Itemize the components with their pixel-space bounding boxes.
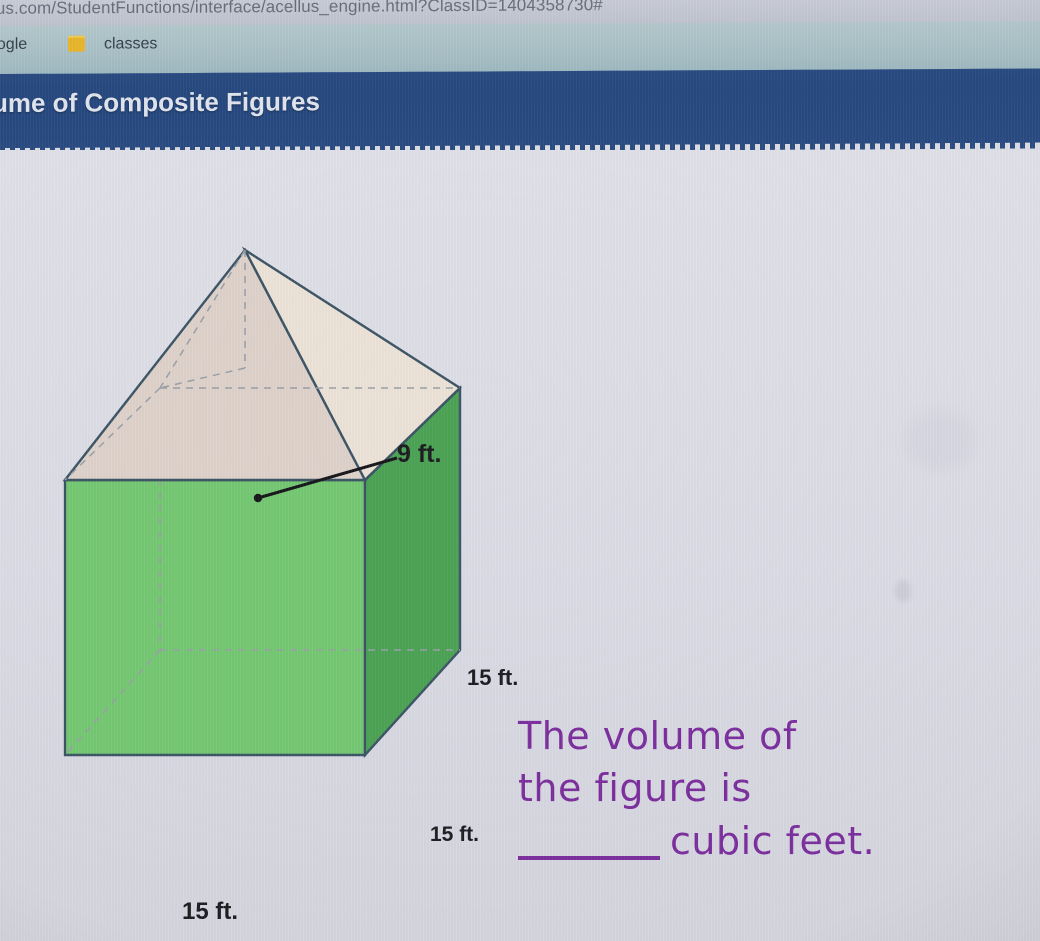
screen-smudge-2 <box>905 410 975 470</box>
label-prism-depth: 15 ft. <box>430 823 479 847</box>
label-pyramid-height: 9 ft. <box>397 440 441 469</box>
bookmarks-bar: oogle classes <box>0 21 1040 74</box>
label-prism-height: 15 ft. <box>467 665 518 691</box>
folder-icon[interactable] <box>68 36 85 52</box>
question-prompt: The volume of the figure is cubic feet. <box>518 710 875 867</box>
url-text[interactable]: lus.com/StudentFunctions/interface/acell… <box>0 0 603 19</box>
answer-blank <box>518 856 660 860</box>
prompt-line-2: the figure is <box>518 762 875 814</box>
prompt-line-3-wrapper: cubic feet. <box>518 815 875 867</box>
prompt-line-1: The volume of <box>518 710 875 762</box>
page-title: ume of Composite Figures <box>0 86 320 119</box>
prompt-line-3: cubic feet. <box>670 819 875 863</box>
browser-screen: lus.com/StudentFunctions/interface/acell… <box>0 0 1040 941</box>
composite-figure-diagram <box>40 240 500 860</box>
label-prism-width: 15 ft. <box>182 898 238 926</box>
prism-front-face <box>65 480 365 755</box>
lesson-content-area: 9 ft. 15 ft. 15 ft. 15 ft. The volume of… <box>0 150 1040 941</box>
screen-smudge <box>895 580 911 602</box>
bookmark-google[interactable]: oogle <box>0 36 27 54</box>
bookmark-classes[interactable]: classes <box>104 35 157 53</box>
app-header: ume of Composite Figures <box>0 69 1040 148</box>
